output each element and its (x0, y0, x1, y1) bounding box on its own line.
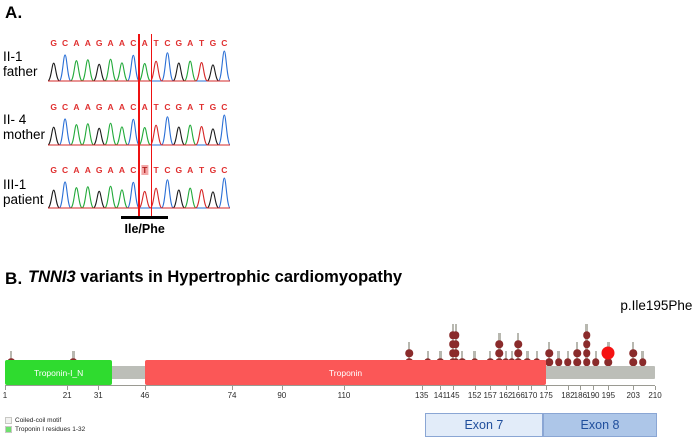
axis-tick-label: 182 (561, 391, 574, 400)
axis-tick (475, 386, 476, 390)
legend-swatch-coiled-coil (5, 417, 12, 424)
lollipop-head[interactable] (583, 358, 591, 366)
exon-7-box[interactable]: Exon 7 (425, 413, 543, 437)
lollipop-head[interactable] (546, 358, 554, 366)
axis-tick (440, 386, 441, 390)
panel-b-title: TNNI3 variants in Hypertrophic cardiomyo… (28, 268, 402, 287)
lollipop-head[interactable] (406, 349, 414, 357)
lollipop-head[interactable] (452, 340, 460, 348)
lollipop-head[interactable] (583, 340, 591, 348)
axis-tick-label: 145 (446, 391, 459, 400)
axis-tick-label: 170 (524, 391, 537, 400)
legend-label-coiled-coil: Coiled-coil motif (15, 417, 61, 424)
codon-underline (121, 216, 168, 219)
lollipop-head[interactable] (496, 349, 504, 357)
exon-7-label: Exon 7 (464, 418, 503, 432)
residue-axis: 1213146749011013514114515215716216617017… (5, 385, 655, 392)
lollipop-head[interactable] (639, 358, 647, 366)
lollipop-head[interactable] (452, 331, 460, 339)
lollipop-head[interactable] (564, 358, 572, 366)
axis-tick-label: 110 (338, 391, 351, 400)
axis-tick-label: 195 (602, 391, 615, 400)
axis-tick (344, 386, 345, 390)
axis-tick (518, 386, 519, 390)
axis-tick (546, 386, 547, 390)
sample-label-father-line2: father (3, 65, 38, 80)
axis-tick (506, 386, 507, 390)
sample-label-mother-line2: mother (3, 128, 45, 143)
axis-tick (67, 386, 68, 390)
sample-label-father-line1: II-1 (3, 50, 38, 65)
lollipop-head[interactable] (555, 358, 563, 366)
exon-8-box[interactable]: Exon 8 (543, 413, 657, 437)
lollipop-head[interactable] (573, 358, 581, 366)
lollipop-head[interactable] (629, 349, 637, 357)
figure-canvas: A. II-1 father II- 4 mother III-1 patien… (0, 0, 700, 446)
axis-tick (608, 386, 609, 390)
legend-item-coiled-coil: Coiled-coil motif (5, 416, 85, 425)
axis-tick-label: 1 (3, 391, 7, 400)
axis-tick (282, 386, 283, 390)
codon-label: Ile/Phe (121, 222, 168, 236)
axis-tick-label: 190 (586, 391, 599, 400)
axis-tick-label: 157 (483, 391, 496, 400)
axis-tick (490, 386, 491, 390)
sample-label-mother-line1: II- 4 (3, 113, 45, 128)
lollipop-head[interactable] (573, 349, 581, 357)
panel-b-title-rest: variants in Hypertrophic cardiomyopathy (76, 268, 402, 286)
axis-tick-label: 162 (499, 391, 512, 400)
lollipop-head[interactable] (514, 349, 522, 357)
lollipop-head-highlighted[interactable] (602, 347, 615, 360)
axis-tick (633, 386, 634, 390)
axis-tick-label: 31 (94, 391, 103, 400)
domain-troponin-label: Troponin (329, 368, 362, 378)
lollipop-plot: p.Ile195Phe Troponin-I_N Troponin 121314… (0, 296, 700, 446)
domain-troponin-i-n-label: Troponin-I_N (34, 368, 83, 378)
exon-8-label: Exon 8 (581, 418, 620, 432)
axis-tick-label: 186 (574, 391, 587, 400)
legend-item-troponin-residues: Troponin I residues 1-32 (5, 425, 85, 434)
lollipop-head[interactable] (583, 331, 591, 339)
sample-label-patient-line1: III-1 (3, 178, 44, 193)
lollipop-head[interactable] (514, 340, 522, 348)
axis-tick (593, 386, 594, 390)
axis-tick (5, 386, 6, 390)
lollipop-head[interactable] (583, 349, 591, 357)
variant-guide-line-right (151, 34, 152, 218)
axis-tick (655, 386, 656, 390)
axis-tick-label: 203 (627, 391, 640, 400)
axis-tick (145, 386, 146, 390)
axis-tick (580, 386, 581, 390)
lollipop-head[interactable] (629, 358, 637, 366)
axis-tick-label: 135 (415, 391, 428, 400)
sample-label-father: II-1 father (3, 50, 38, 79)
variant-annotation-label: p.Ile195Phe (620, 298, 692, 313)
axis-tick (422, 386, 423, 390)
lollipop-head[interactable] (496, 340, 504, 348)
lollipop-head[interactable] (452, 349, 460, 357)
domain-troponin[interactable]: Troponin (145, 360, 546, 385)
legend-swatch-troponin-residues (5, 426, 12, 433)
axis-tick (232, 386, 233, 390)
axis-tick (98, 386, 99, 390)
axis-tick-label: 21 (63, 391, 72, 400)
variant-guide-line-left (138, 34, 139, 218)
axis-tick-label: 90 (277, 391, 286, 400)
panel-b-label: B. (5, 269, 22, 289)
axis-tick (568, 386, 569, 390)
axis-tick-label: 175 (539, 391, 552, 400)
sample-label-patient-line2: patient (3, 193, 44, 208)
axis-tick-label: 210 (648, 391, 661, 400)
gene-name: TNNI3 (28, 268, 76, 286)
domain-troponin-i-n[interactable]: Troponin-I_N (5, 360, 112, 385)
axis-tick-label: 152 (468, 391, 481, 400)
lollipop-head[interactable] (592, 358, 600, 366)
axis-tick-label: 46 (140, 391, 149, 400)
legend: Coiled-coil motif Troponin I residues 1-… (5, 416, 85, 434)
lollipop-head[interactable] (546, 349, 554, 357)
panel-a-label: A. (5, 3, 22, 23)
legend-label-troponin-residues: Troponin I residues 1-32 (15, 426, 85, 433)
axis-tick-label: 74 (228, 391, 237, 400)
sample-label-mother: II- 4 mother (3, 113, 45, 142)
axis-tick (531, 386, 532, 390)
axis-tick (453, 386, 454, 390)
axis-tick-label: 141 (434, 391, 447, 400)
axis-tick-label: 166 (511, 391, 524, 400)
sample-label-patient: III-1 patient (3, 178, 44, 207)
